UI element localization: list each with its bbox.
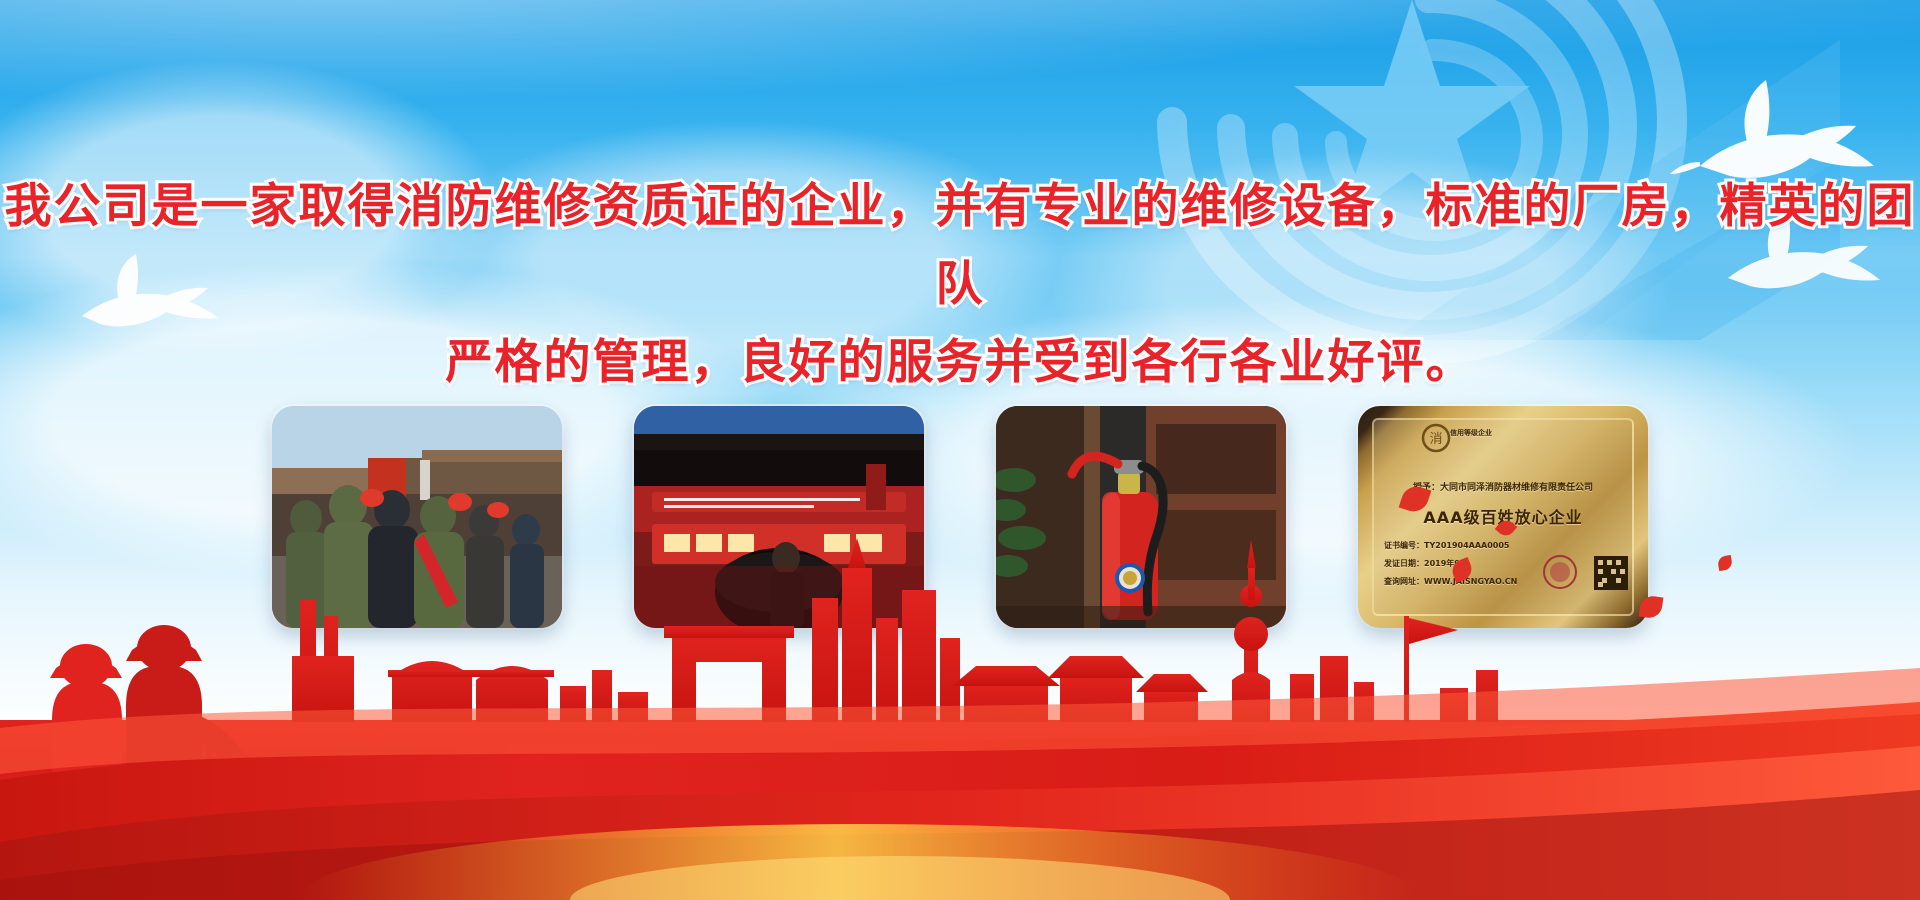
sky-gradient — [0, 0, 1920, 330]
cloud-center — [420, 120, 1060, 400]
photo-3-art — [996, 406, 1286, 628]
svg-text:消: 消 — [1429, 432, 1442, 447]
light-rays — [1280, 40, 1840, 360]
photo-fire-extinguisher[interactable] — [996, 406, 1286, 628]
photo-1-art — [272, 406, 562, 628]
headline-line-1: 我公司是一家取得消防维修资质证的企业，并有专业的维修设备，标准的厂房，精英的团队 — [0, 168, 1920, 324]
plaque-cert-no: 证书编号：TY201904AAA0005 — [1384, 540, 1648, 551]
plaque-query-url: 查询网址：WWW.JAISNGYAO.CN — [1384, 576, 1648, 587]
photo-2-art — [634, 406, 924, 628]
star-and-swirl-emblem — [1040, 0, 1800, 410]
firefighter-silhouette-left — [50, 644, 170, 900]
plaque-title: AAA级百姓放心企业 — [1358, 504, 1648, 528]
dove-mid-right — [1700, 200, 1890, 320]
photo-aaa-credit-plaque[interactable]: 消 信用等级企业 授予：大同市同泽消防器材维修有限责任公司 AAA级百姓放心企业… — [1358, 406, 1648, 628]
dove-top-right — [1660, 70, 1890, 220]
photo-ceremony-inspection[interactable] — [272, 406, 562, 628]
ribbon-highlight — [0, 668, 1920, 774]
ribbon-shadow — [0, 790, 1920, 900]
golden-glow-core — [570, 856, 1230, 900]
cloud-right — [1050, 150, 1670, 430]
plaque-award-line: 授予：大同市同泽消防器材维修有限责任公司 — [1358, 480, 1648, 493]
photo-strip: 消 信用等级企业 授予：大同市同泽消防器材维修有限责任公司 AAA级百姓放心企业… — [0, 406, 1920, 636]
golden-glow — [300, 824, 1420, 900]
ribbon-band-1 — [0, 702, 1920, 900]
headline-block: 我公司是一家取得消防维修资质证的企业，并有专业的维修设备，标准的厂房，精英的团队… — [0, 168, 1920, 402]
headline-line-2: 严格的管理，良好的服务并受到各行各业好评。 — [0, 324, 1920, 402]
plaque-date: 发证日期：2019年9月 — [1384, 558, 1648, 569]
firefighter-silhouette-right — [126, 625, 250, 900]
cloud-left — [0, 60, 500, 360]
photo-119-campaign-stage[interactable] — [634, 406, 924, 628]
star-icon — [1294, 0, 1530, 225]
dove-left — [64, 246, 224, 354]
ribbon-band-2 — [0, 746, 1920, 900]
plaque-header-text: 信用等级企业 — [1450, 428, 1636, 438]
fire-safety-hero-banner: 我公司是一家取得消防维修资质证的企业，并有专业的维修设备，标准的厂房，精英的团队… — [0, 0, 1920, 900]
